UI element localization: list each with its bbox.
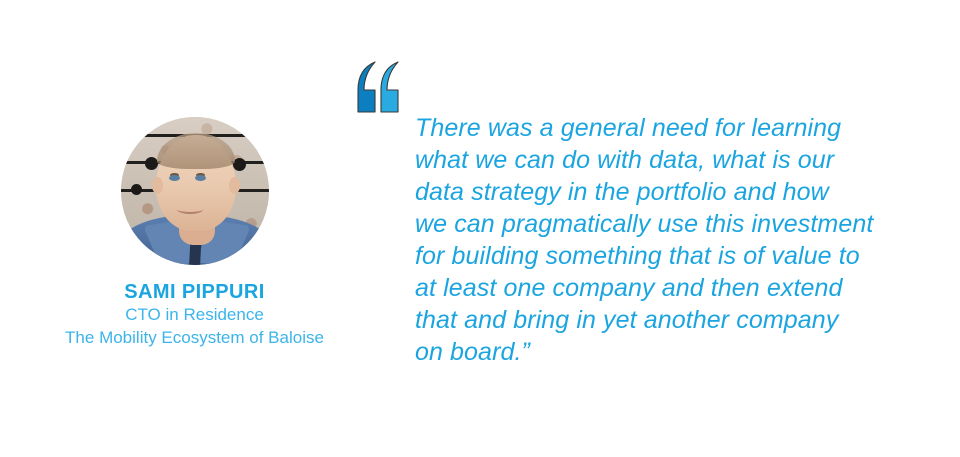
quotation-mark-icon <box>355 60 403 114</box>
speaker-role: CTO in Residence <box>0 304 389 326</box>
photo-ear-left <box>152 177 163 194</box>
quote-text: There was a general need for learning wh… <box>415 112 915 368</box>
quote-block: There was a general need for learning wh… <box>355 60 915 368</box>
speaker-organization: The Mobility Ecosystem of Baloise <box>0 327 389 349</box>
photo-background-dot <box>131 184 142 195</box>
photo-eye-right <box>195 175 206 181</box>
speaker-avatar-photo <box>121 117 269 265</box>
photo-mouth <box>177 205 203 214</box>
testimonial-slide: SAMI PIPPURI CTO in Residence The Mobili… <box>0 0 960 457</box>
photo-eye-left <box>169 175 180 181</box>
speaker-name: SAMI PIPPURI <box>0 281 389 303</box>
speaker-block: SAMI PIPPURI CTO in Residence The Mobili… <box>0 105 389 350</box>
photo-ear-right <box>229 177 240 194</box>
photo-background-dot <box>145 157 158 170</box>
